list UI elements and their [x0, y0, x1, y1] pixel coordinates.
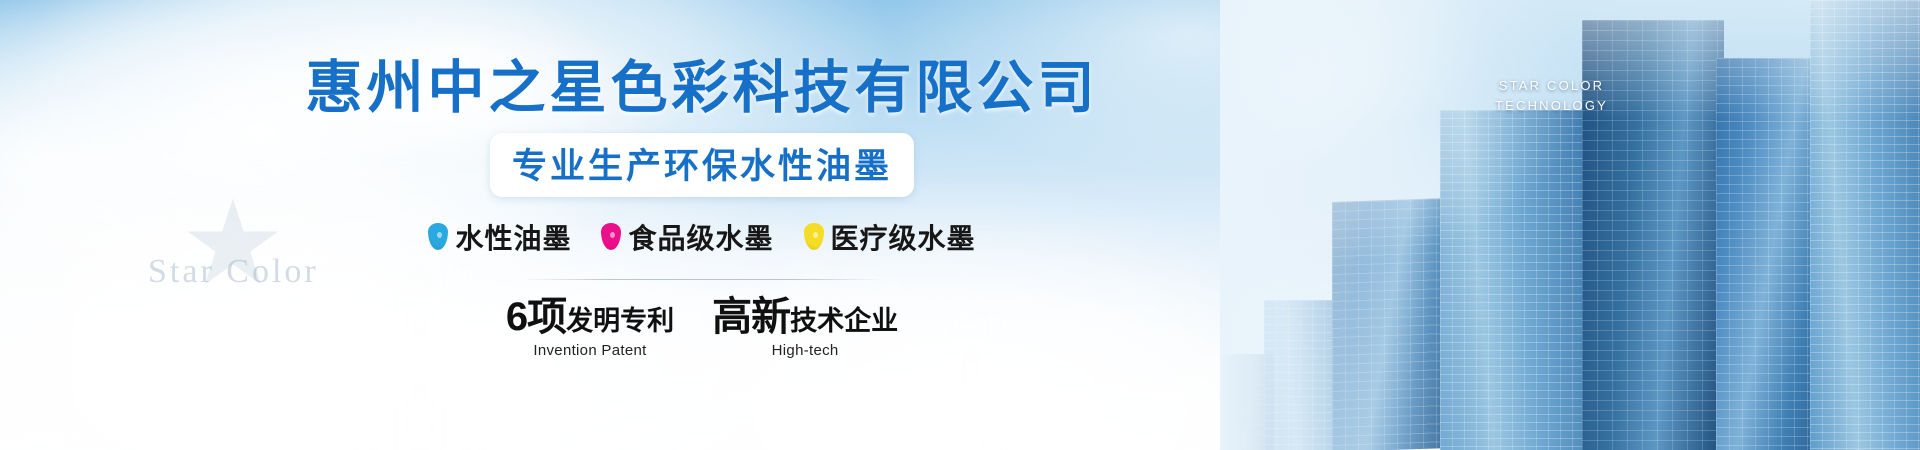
credential-badge: 高新技术企业 High-tech: [712, 296, 898, 359]
credential-badge-title: 高新技术企业: [712, 296, 898, 339]
droplet-icon: [601, 223, 621, 250]
product-tag: 食品级水墨: [601, 217, 773, 257]
product-tag-label: 食品级水墨: [628, 217, 773, 257]
credential-badge-subtitle: Invention Patent: [506, 342, 674, 359]
credential-badge-rest: 发明专利: [566, 306, 674, 336]
banner-content: 惠州中之星色彩科技有限公司 专业生产环保水性油墨 水性油墨 食品级水墨 医疗级水…: [0, 0, 1920, 359]
credential-badge-lead: 高新: [712, 295, 790, 339]
product-tag: 水性油墨: [428, 217, 571, 257]
company-title: 惠州中之星色彩科技有限公司: [0, 57, 1662, 121]
credential-badge-lead: 6项: [506, 295, 566, 339]
product-tag-label: 水性油墨: [455, 217, 571, 257]
credential-badge-list: 6项发明专利 Invention Patent 高新技术企业 High-tech: [0, 296, 1662, 359]
subtitle-container: 专业生产环保水性油墨: [0, 133, 1662, 197]
droplet-icon: [804, 223, 824, 250]
credential-badge: 6项发明专利 Invention Patent: [506, 296, 674, 359]
credential-badge-rest: 技术企业: [790, 306, 898, 336]
subtitle-pill: 专业生产环保水性油墨: [490, 133, 914, 197]
product-tag-list: 水性油墨 食品级水墨 医疗级水墨: [0, 217, 1662, 257]
droplet-icon: [428, 223, 448, 250]
credential-badge-subtitle: High-tech: [712, 342, 898, 359]
hero-banner: ★ Star Color STAR COLOR TECHNOLOGY 惠州中之星…: [0, 0, 1920, 450]
product-tag-label: 医疗级水墨: [831, 217, 976, 257]
credential-badge-title: 6项发明专利: [506, 296, 674, 339]
product-tag: 医疗级水墨: [804, 217, 976, 257]
section-divider: [522, 279, 882, 280]
